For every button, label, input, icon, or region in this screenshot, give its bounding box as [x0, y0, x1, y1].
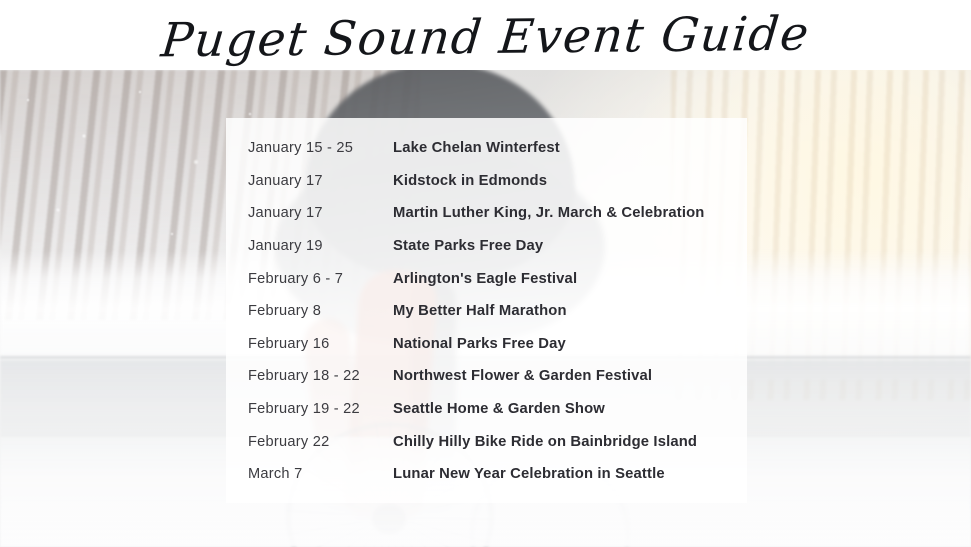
event-name: Kidstock in Edmonds: [393, 173, 747, 189]
event-guide-poster: Puget Sound Event Guide January 15 - 25L…: [0, 0, 971, 547]
event-name: National Parks Free Day: [393, 336, 747, 352]
event-date: February 18 - 22: [226, 368, 393, 384]
event-name: Seattle Home & Garden Show: [393, 401, 747, 417]
event-date: February 22: [226, 434, 393, 450]
event-row: January 19State Parks Free Day: [226, 230, 747, 263]
event-date: January 17: [226, 173, 393, 189]
event-name: Lunar New Year Celebration in Seattle: [393, 466, 747, 482]
event-row: February 6 - 7Arlington's Eagle Festival: [226, 262, 747, 295]
event-row: February 22Chilly Hilly Bike Ride on Bai…: [226, 425, 747, 458]
event-date: January 19: [226, 238, 393, 254]
event-row: January 17Kidstock in Edmonds: [226, 165, 747, 198]
event-list-card: January 15 - 25Lake Chelan WinterfestJan…: [226, 118, 747, 503]
event-name: My Better Half Marathon: [393, 303, 747, 319]
event-row: January 15 - 25Lake Chelan Winterfest: [226, 132, 747, 165]
event-date: February 8: [226, 303, 393, 319]
event-date: February 19 - 22: [226, 401, 393, 417]
event-name: Chilly Hilly Bike Ride on Bainbridge Isl…: [393, 434, 747, 450]
event-row: February 8My Better Half Marathon: [226, 295, 747, 328]
event-date: March 7: [226, 466, 393, 482]
page-title: Puget Sound Event Guide: [0, 5, 971, 70]
event-date: January 15 - 25: [226, 140, 393, 156]
event-name: Northwest Flower & Garden Festival: [393, 368, 747, 384]
event-name: Lake Chelan Winterfest: [393, 140, 747, 156]
event-name: Martin Luther King, Jr. March & Celebrat…: [393, 205, 747, 221]
event-name: State Parks Free Day: [393, 238, 747, 254]
event-row: February 19 - 22Seattle Home & Garden Sh…: [226, 393, 747, 426]
event-name: Arlington's Eagle Festival: [393, 271, 747, 287]
event-date: February 16: [226, 336, 393, 352]
event-row: February 18 - 22Northwest Flower & Garde…: [226, 360, 747, 393]
event-date: January 17: [226, 205, 393, 221]
event-row: January 17Martin Luther King, Jr. March …: [226, 197, 747, 230]
event-row: February 16National Parks Free Day: [226, 328, 747, 361]
event-row: March 7Lunar New Year Celebration in Sea…: [226, 458, 747, 491]
event-date: February 6 - 7: [226, 271, 393, 287]
